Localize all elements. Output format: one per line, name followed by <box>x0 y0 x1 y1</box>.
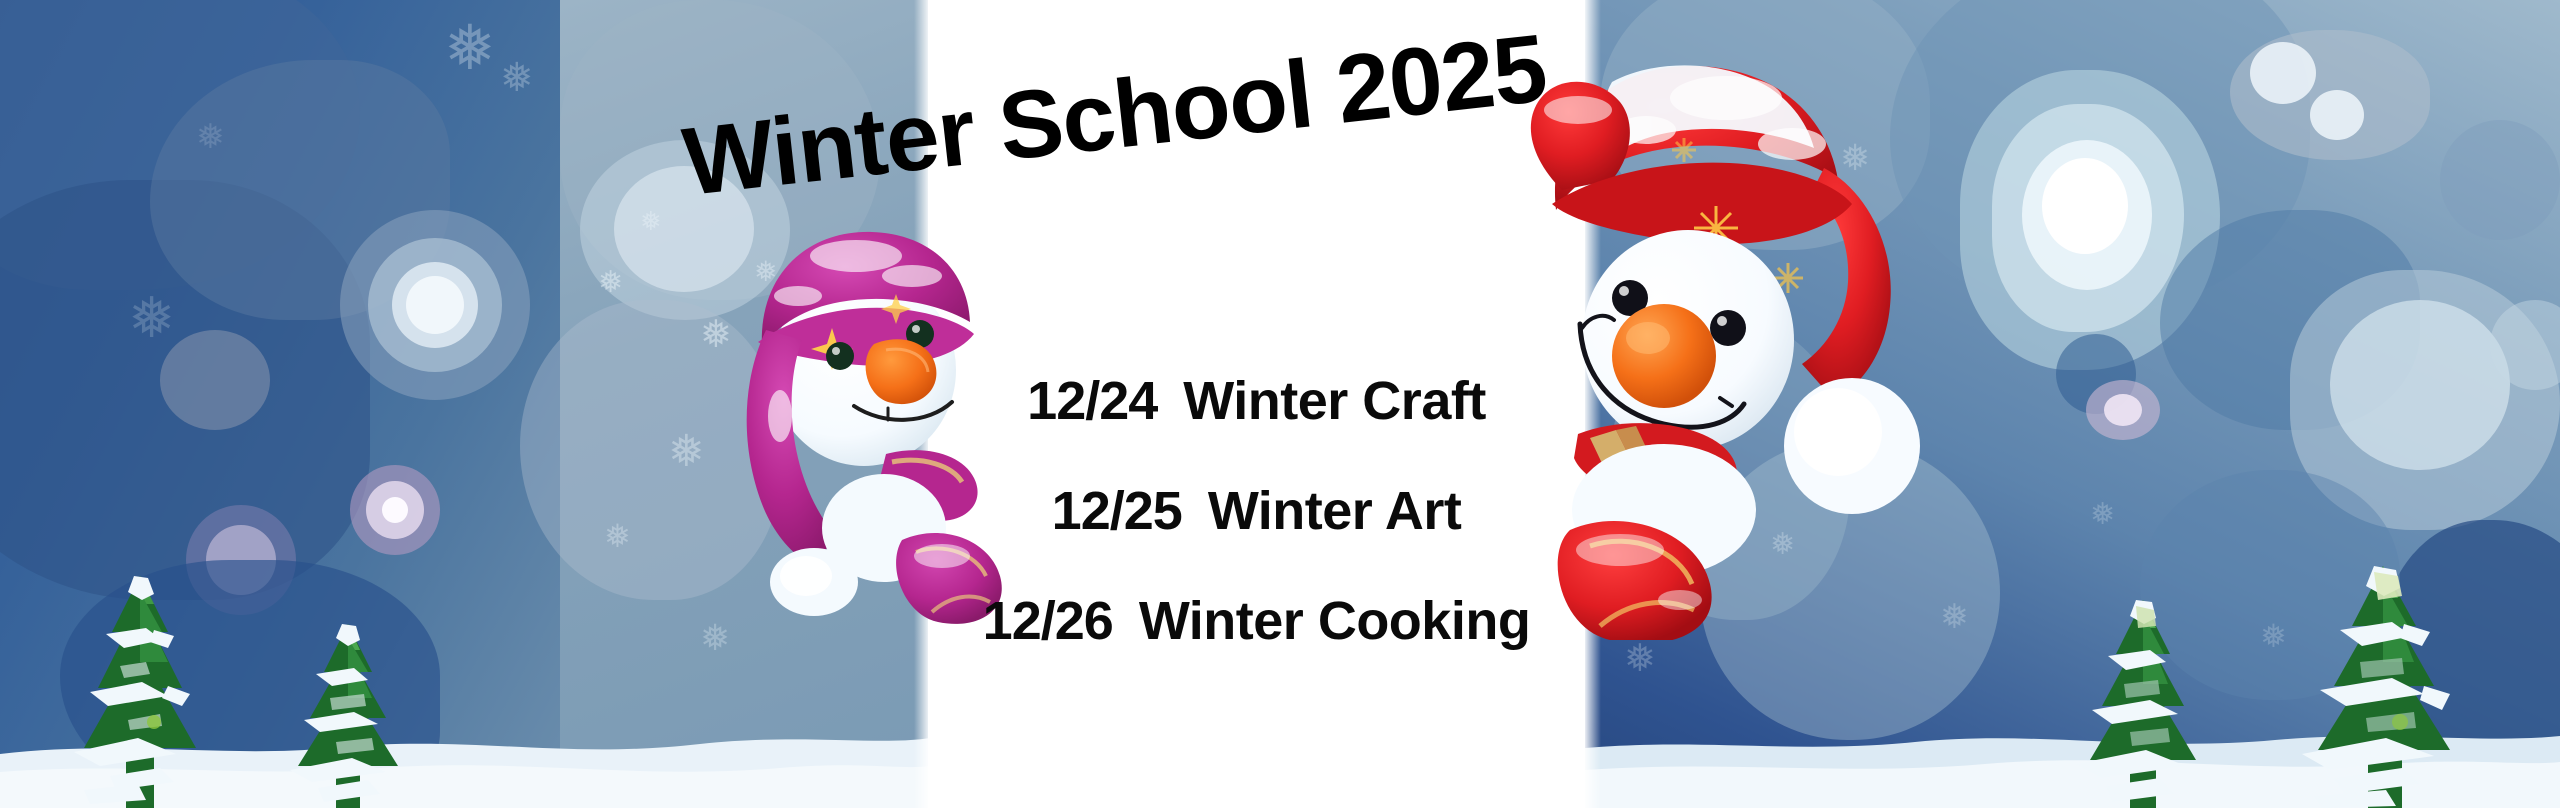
schedule-row: 12/25 Winter Art <box>1052 480 1462 542</box>
schedule-row: 12/26 Winter Cooking <box>983 590 1531 652</box>
schedule-row: 12/24 Winter Craft <box>1027 370 1486 432</box>
snow-pine-tree <box>2058 596 2228 808</box>
schedule-title: Winter Craft <box>1183 370 1486 432</box>
winter-school-banner: ❅ ❅ ❅ ❅ ❅ ❅ ❅ ❅ ❅ ❅ ❅ ❅ ❅ ❅ ❅ ❅ ❅ ❅ ❅ ❅ … <box>0 0 2560 808</box>
snow-pine-tree <box>268 620 428 808</box>
schedule-title: Winter Cooking <box>1139 590 1531 652</box>
schedule-date: 12/24 <box>1027 370 1157 432</box>
schedule-date: 12/25 <box>1052 480 1182 542</box>
snow-pine-tree <box>50 570 230 808</box>
schedule-date: 12/26 <box>983 590 1113 652</box>
schedule-title: Winter Art <box>1208 480 1462 542</box>
snow-pine-tree <box>2278 562 2488 808</box>
schedule-list: 12/24 Winter Craft 12/25 Winter Art 12/2… <box>928 370 1585 652</box>
